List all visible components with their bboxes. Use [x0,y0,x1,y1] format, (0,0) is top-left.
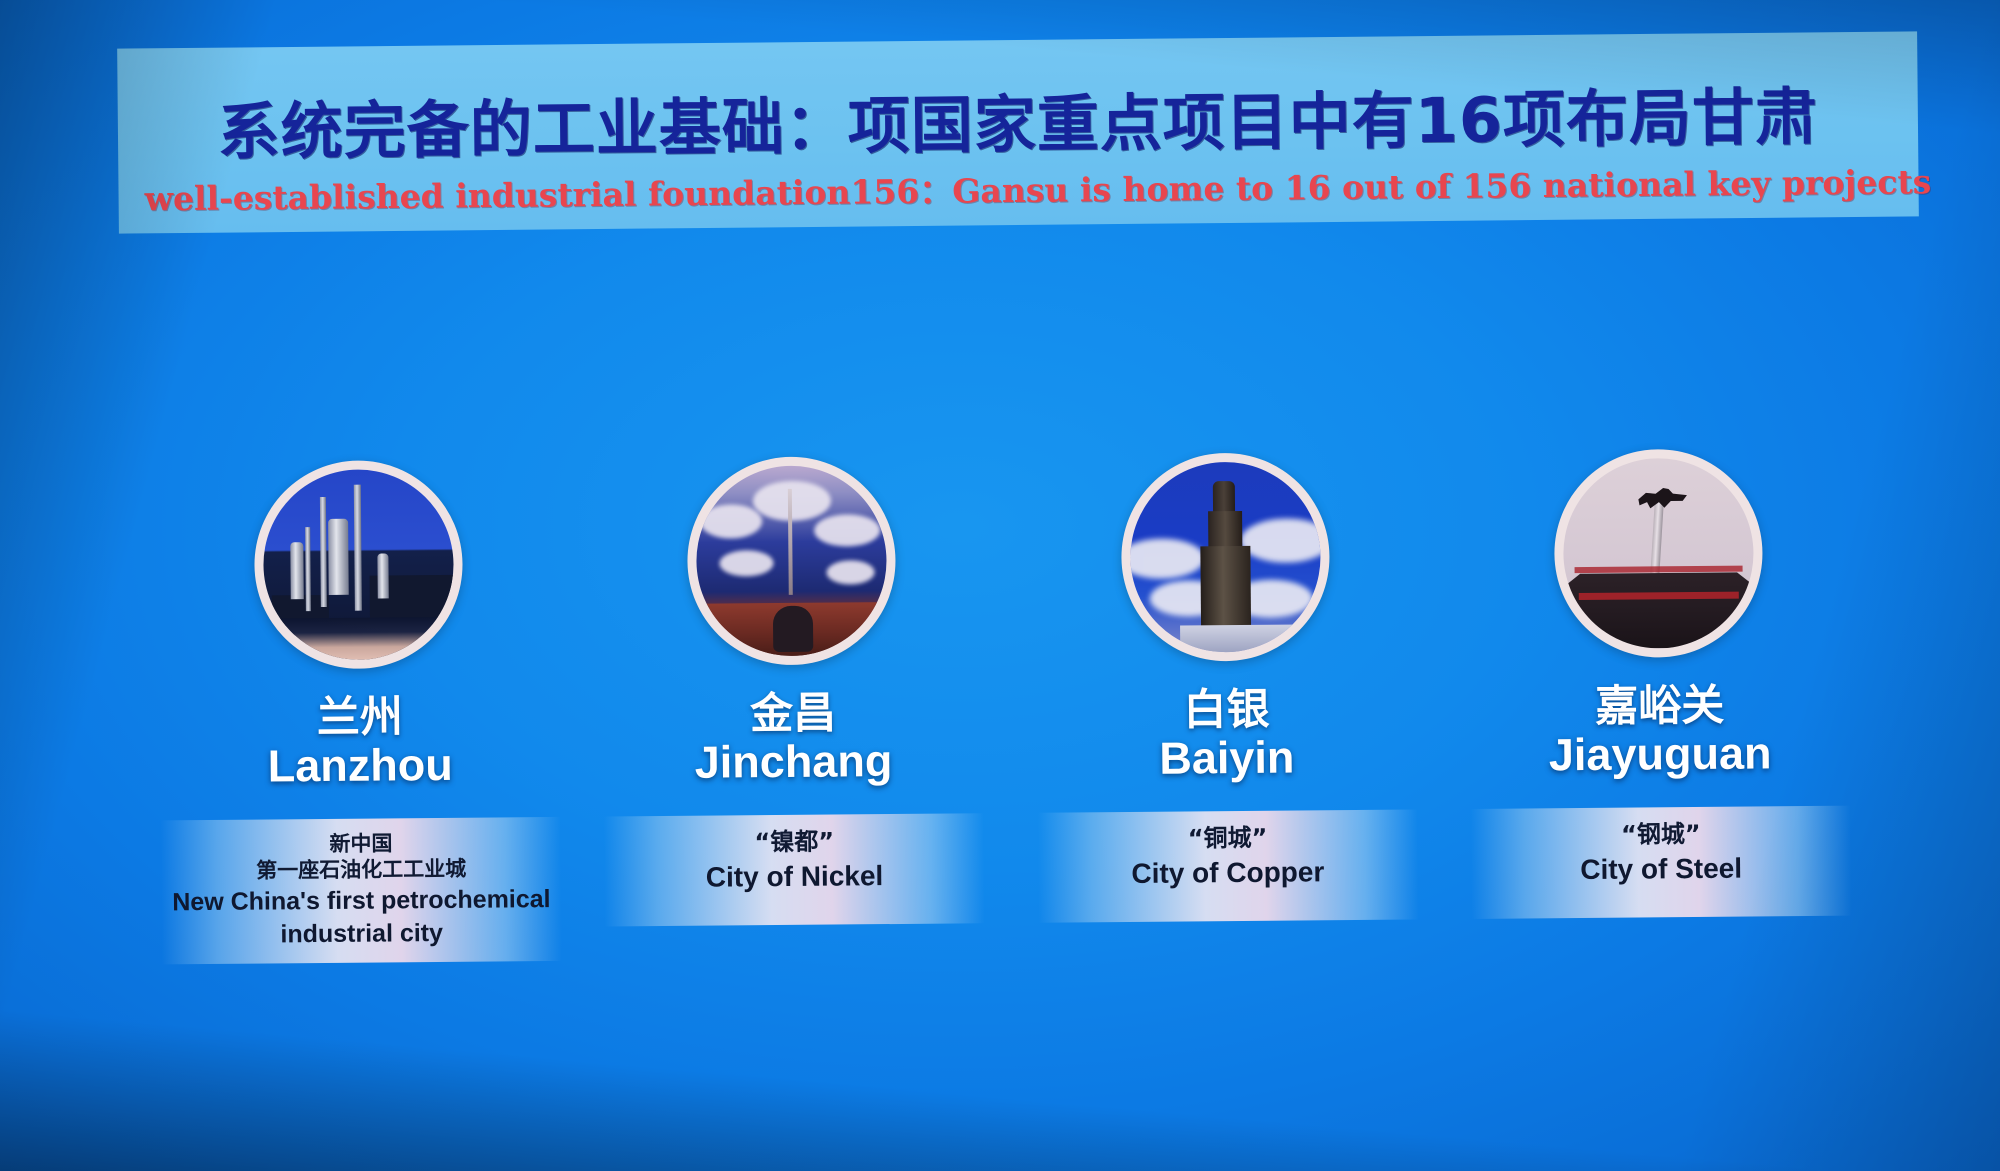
caption-chinese-line1: “镍都” [610,825,978,858]
city-name-english: Jiayuguan [1549,729,1772,780]
city-name-english: Baiyin [1159,733,1294,784]
city-card-lanzhou[interactable]: 兰州 Lanzhou 新中国 第一座石油化工工业城 New China's fi… [148,459,573,1023]
city-name-chinese: 金昌 [750,691,836,738]
caption-chinese-line1: “铜城” [1043,821,1411,854]
photo-ring-lanzhou [254,460,464,670]
title-band: 系统完备的工业基础：项国家重点项目中有16项布局甘肃 well-establis… [117,31,1919,233]
caption-chinese-line1: 新中国 [167,829,555,859]
city-name-english: Lanzhou [268,740,453,791]
caption-english-line2: industrial city [168,918,556,950]
jiayuguan-flying-horse-photo [1563,458,1755,650]
photo-ring-baiyin [1120,452,1330,662]
photo-ring-jiayuguan [1554,448,1764,658]
city-name-chinese: 白银 [1183,687,1269,734]
city-card-jiayuguan[interactable]: 嘉峪关 Jiayuguan “钢城” City of Steel [1448,448,1873,1012]
lanzhou-refinery-photo [263,469,455,661]
caption-chinese-line2: 第一座石油化工工业城 [167,855,555,885]
slide-title-chinese: 系统完备的工业基础：项国家重点项目中有16项布局甘肃 [144,86,1893,165]
city-name-english: Jinchang [695,736,893,787]
caption-plaque-baiyin: “铜城” City of Copper [1037,809,1418,922]
caption-english-line1: City of Copper [1044,855,1412,890]
caption-english-line1: New China's first petrochemical [167,885,555,917]
slide-subtitle-english: well-established industrial foundation15… [144,166,1892,216]
baiyin-copper-tower-photo [1129,461,1321,653]
city-name-chinese: 嘉峪关 [1595,683,1724,731]
title-band-inner: 系统完备的工业基础：项国家重点项目中有16项布局甘肃 well-establis… [117,31,1919,233]
city-name-chinese: 兰州 [317,694,403,741]
caption-english-line1: City of Nickel [610,859,978,894]
jinchang-monument-photo [696,465,888,657]
caption-english-line1: City of Steel [1477,852,1845,887]
city-row: 兰州 Lanzhou 新中国 第一座石油化工工业城 New China's fi… [148,448,1873,1023]
caption-plaque-jiayuguan: “钢城” City of Steel [1471,806,1852,919]
city-card-baiyin[interactable]: 白银 Baiyin “铜城” City of Copper [1014,451,1439,1015]
caption-plaque-jinchang: “镍都” City of Nickel [604,813,985,926]
presentation-slide: 系统完备的工业基础：项国家重点项目中有16项布局甘肃 well-establis… [0,0,2000,1171]
photo-ring-jinchang [687,456,897,666]
city-card-jinchang[interactable]: 金昌 Jinchang “镍都” City of Nickel [581,455,1006,1019]
caption-chinese-line1: “钢城” [1477,818,1845,851]
caption-plaque-lanzhou: 新中国 第一座石油化工工业城 New China's first petroch… [161,817,562,964]
